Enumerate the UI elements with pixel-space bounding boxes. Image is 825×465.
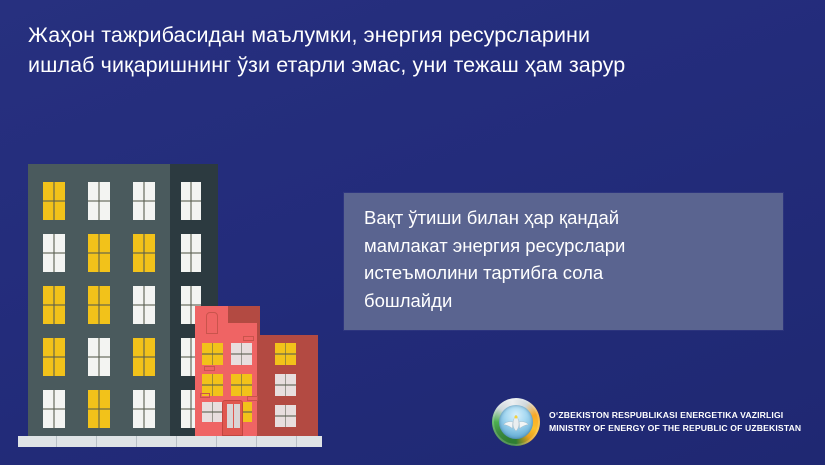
ministry-name: O‘ZBEKISTON RESPUBLIKASI ENERGETIKA VAZI… xyxy=(549,409,801,435)
window xyxy=(231,374,252,396)
window xyxy=(43,182,65,220)
window xyxy=(88,234,110,272)
apartment-buildings-illustration xyxy=(0,140,340,465)
window xyxy=(88,390,110,428)
window xyxy=(88,182,110,220)
callout-box: Вақт ўтиши билан ҳар қандай мамлакат эне… xyxy=(344,193,783,330)
vent-detail xyxy=(243,336,254,341)
ground-strip xyxy=(18,436,322,447)
window xyxy=(88,338,110,376)
ministry-name-en: MINISTRY OF ENERGY OF THE REPUBLIC OF UZ… xyxy=(549,422,801,435)
ministry-branding: O‘ZBEKISTON RESPUBLIKASI ENERGETIKA VAZI… xyxy=(492,398,801,446)
window xyxy=(43,390,65,428)
vent-detail xyxy=(247,396,258,401)
uzbekistan-emblem-icon xyxy=(492,398,540,446)
window xyxy=(43,338,65,376)
vent-detail xyxy=(200,393,210,398)
slide-canvas: Жаҳон тажрибасидан маълумки, энергия рес… xyxy=(0,0,825,465)
window xyxy=(133,234,155,272)
window xyxy=(202,343,223,365)
window xyxy=(43,234,65,272)
window xyxy=(275,374,296,396)
window xyxy=(275,343,296,365)
window xyxy=(181,234,201,272)
window xyxy=(202,402,223,422)
window xyxy=(133,390,155,428)
ministry-name-uz: O‘ZBEKISTON RESPUBLIKASI ENERGETIKA VAZI… xyxy=(549,409,801,422)
window xyxy=(88,286,110,324)
vent-detail xyxy=(204,366,215,371)
red-building-entrance-door xyxy=(222,400,243,436)
window xyxy=(133,286,155,324)
window xyxy=(133,182,155,220)
red-building-tower-door xyxy=(206,312,218,334)
humo-bird-icon xyxy=(503,413,529,433)
window xyxy=(43,286,65,324)
window xyxy=(275,405,296,427)
callout-text: Вақт ўтиши билан ҳар қандай мамлакат эне… xyxy=(364,204,768,314)
window xyxy=(133,338,155,376)
page-title: Жаҳон тажрибасидан маълумки, энергия рес… xyxy=(28,20,808,80)
window xyxy=(181,182,201,220)
window xyxy=(231,343,252,365)
